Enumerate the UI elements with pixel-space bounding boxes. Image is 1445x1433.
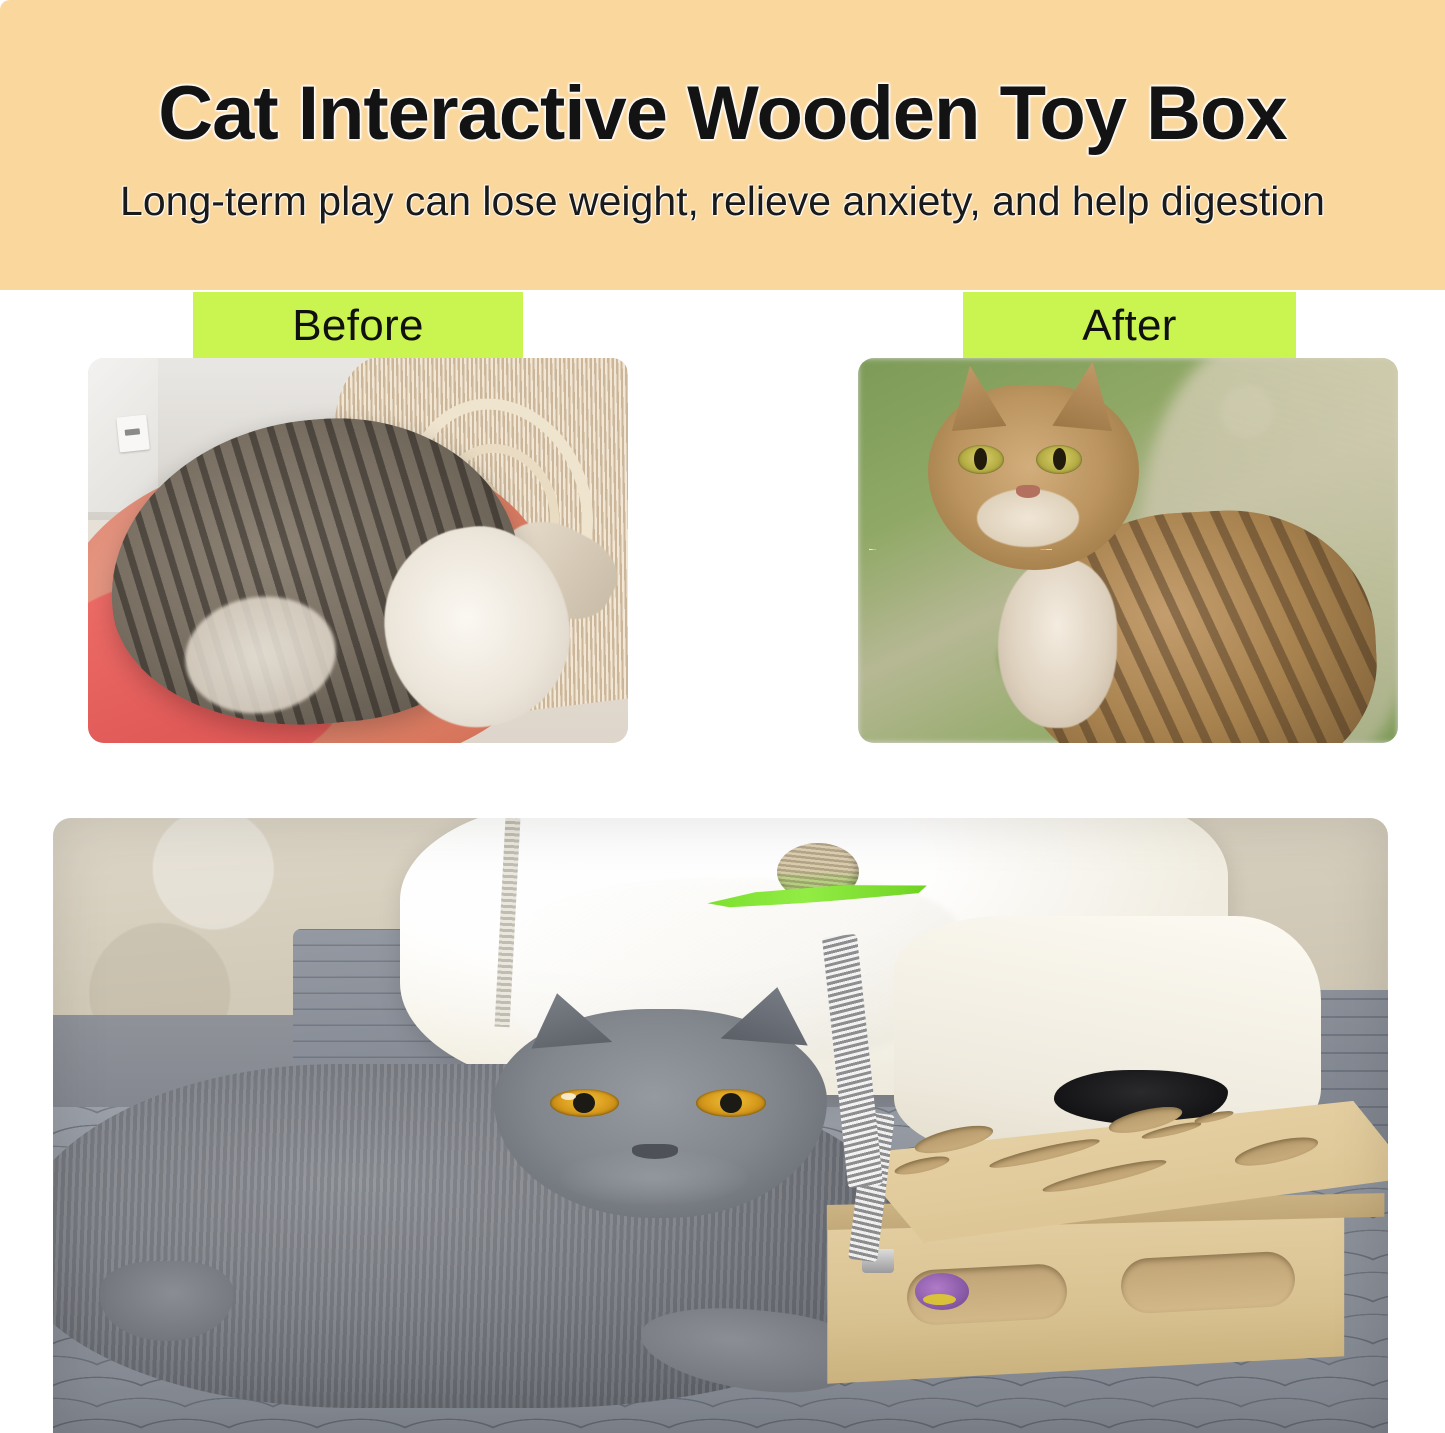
cat-eye-right [1036, 445, 1082, 474]
after-label-text: After [1082, 301, 1176, 351]
cat-whiskers [869, 497, 1053, 551]
before-photo-scene [88, 358, 628, 743]
grey-cat-eye-left [550, 1089, 619, 1117]
grey-cat-nose [632, 1144, 677, 1159]
page-title: Cat Interactive Wooden Toy Box [158, 76, 1286, 152]
after-label-chip: After [963, 292, 1296, 360]
after-photo-scene [858, 358, 1398, 743]
header-banner: Cat Interactive Wooden Toy Box Long-term… [0, 0, 1445, 290]
page-subtitle: Long-term play can lose weight, relieve … [120, 178, 1325, 225]
grey-cat-eye-right [696, 1089, 765, 1117]
toy-mouse [915, 1273, 968, 1310]
after-photo [858, 358, 1398, 743]
cat-chest-fur [998, 558, 1117, 727]
before-label-chip: Before [193, 292, 523, 360]
before-label-text: Before [292, 301, 423, 351]
hero-photo-scene [53, 818, 1388, 1433]
hero-product-photo [53, 818, 1388, 1433]
cat-eye-left [958, 445, 1004, 474]
paper-tag [116, 414, 150, 452]
before-photo [88, 358, 628, 743]
toy-box-side-opening-right [1120, 1250, 1296, 1314]
